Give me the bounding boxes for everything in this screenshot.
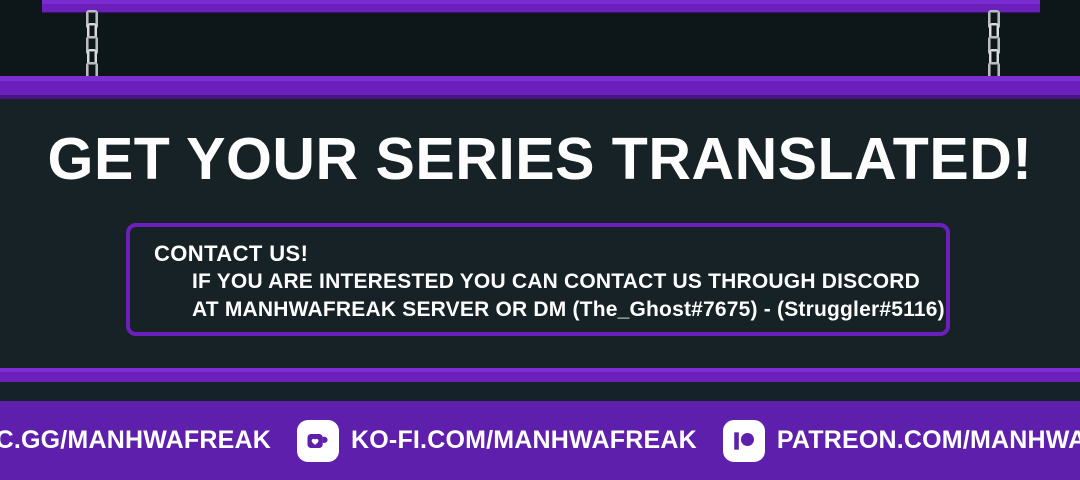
social-link-discord[interactable]: DSC.GG/MANHWAFREAK <box>0 420 271 462</box>
lower-dark-gap <box>0 382 1080 401</box>
lower-divider-bar <box>0 368 1080 382</box>
social-label-kofi: KO-FI.COM/MANHWAFREAK <box>351 426 697 455</box>
social-label-patreon: PATREON.COM/MANHWAFREAK <box>777 426 1080 455</box>
contact-title: CONTACT US! <box>154 241 946 266</box>
contact-line-1: IF YOU ARE INTERESTED YOU CAN CONTACT US… <box>192 268 946 295</box>
contact-box: CONTACT US! IF YOU ARE INTERESTED YOU CA… <box>126 223 950 336</box>
page-title: GET YOUR SERIES TRANSLATED! <box>0 130 1080 189</box>
kofi-icon <box>297 420 339 462</box>
footer-social-bar: DSC.GG/MANHWAFREAK KO-FI.COM/MANHWAFREAK… <box>0 401 1080 480</box>
chain-icon <box>987 10 997 82</box>
lower-divider-highlight <box>0 368 1080 372</box>
contact-line-2: AT MANHWAFREAK SERVER OR DM (The_Ghost#7… <box>192 296 946 323</box>
upper-divider-bar <box>0 76 1080 95</box>
contact-details: IF YOU ARE INTERESTED YOU CAN CONTACT US… <box>154 268 946 323</box>
top-accent-bar <box>42 0 1040 12</box>
top-accent-bar-highlight <box>42 0 1040 4</box>
social-link-patreon[interactable]: PATREON.COM/MANHWAFREAK <box>723 420 1080 462</box>
chain-icon <box>85 10 95 82</box>
contact-box-inner: CONTACT US! IF YOU ARE INTERESTED YOU CA… <box>130 227 946 332</box>
credits-banner: GET YOUR SERIES TRANSLATED! CONTACT US! … <box>0 0 1080 480</box>
upper-divider-highlight <box>0 76 1080 81</box>
patreon-icon <box>723 420 765 462</box>
social-link-kofi[interactable]: KO-FI.COM/MANHWAFREAK <box>297 420 697 462</box>
social-label-discord: DSC.GG/MANHWAFREAK <box>0 426 271 455</box>
